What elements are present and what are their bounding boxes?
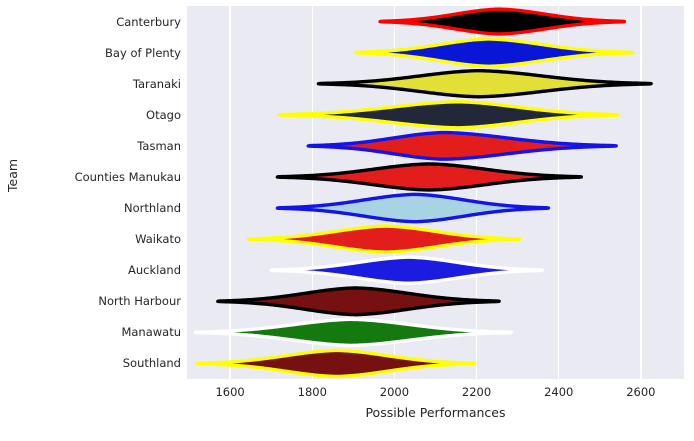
x-tick-1600: 1600 [190, 385, 270, 399]
x-axis-tick-labels: 160018002000220024002600 [0, 0, 694, 441]
y-axis-title: Team [5, 159, 20, 192]
x-tick-2400: 2400 [519, 385, 599, 399]
x-tick-2200: 2200 [437, 385, 517, 399]
x-tick-1800: 1800 [272, 385, 352, 399]
violin-plot-figure: CanterburyBay of PlentyTaranakiOtagoTasm… [0, 0, 694, 441]
x-tick-2000: 2000 [354, 385, 434, 399]
x-axis-title: Possible Performances [187, 405, 684, 420]
x-tick-2600: 2600 [601, 385, 681, 399]
